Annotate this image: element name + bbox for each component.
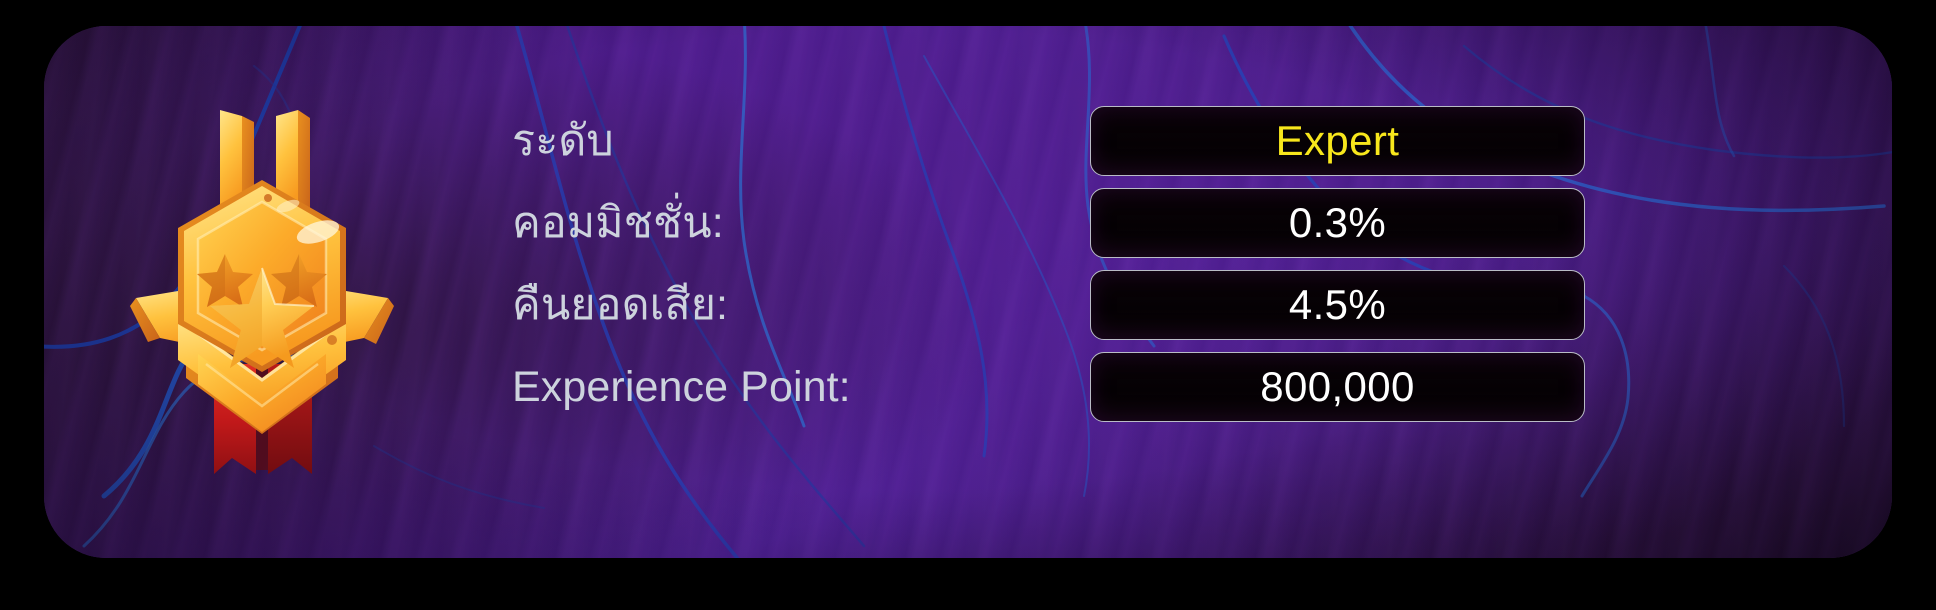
row-rakeback: คืนยอดเสีย: 4.5%: [454, 264, 1892, 346]
stats-rows: ระดับ Expert คอมมิชชั่น: 0.3% คืนยอดเสีย…: [454, 26, 1892, 558]
row-label-commission: คอมมิชชั่น:: [512, 202, 724, 245]
row-experience: Experience Point: 800,000: [454, 346, 1892, 428]
row-value-box-rakeback[interactable]: 4.5%: [1090, 270, 1585, 340]
row-label-rank: ระดับ: [512, 120, 614, 163]
row-value-box-rank[interactable]: Expert: [1090, 106, 1585, 176]
badge-column: [44, 26, 454, 558]
row-label-experience: Experience Point:: [512, 366, 851, 409]
row-value-box-commission[interactable]: 0.3%: [1090, 188, 1585, 258]
row-value-box-experience[interactable]: 800,000: [1090, 352, 1585, 422]
card-outer-frame: ระดับ Expert คอมมิชชั่น: 0.3% คืนยอดเสีย…: [0, 0, 1936, 610]
row-commission: คอมมิชชั่น: 0.3%: [454, 182, 1892, 264]
row-value-rakeback: 4.5%: [1289, 284, 1386, 326]
row-value-commission: 0.3%: [1289, 202, 1386, 244]
rank-tier-card: ระดับ Expert คอมมิชชั่น: 0.3% คืนยอดเสีย…: [44, 26, 1892, 558]
row-label-rakeback: คืนยอดเสีย:: [512, 284, 728, 327]
row-value-experience: 800,000: [1260, 366, 1415, 408]
rank-medal-icon: [122, 102, 402, 482]
row-value-rank: Expert: [1276, 120, 1400, 162]
row-rank: ระดับ Expert: [454, 100, 1892, 182]
